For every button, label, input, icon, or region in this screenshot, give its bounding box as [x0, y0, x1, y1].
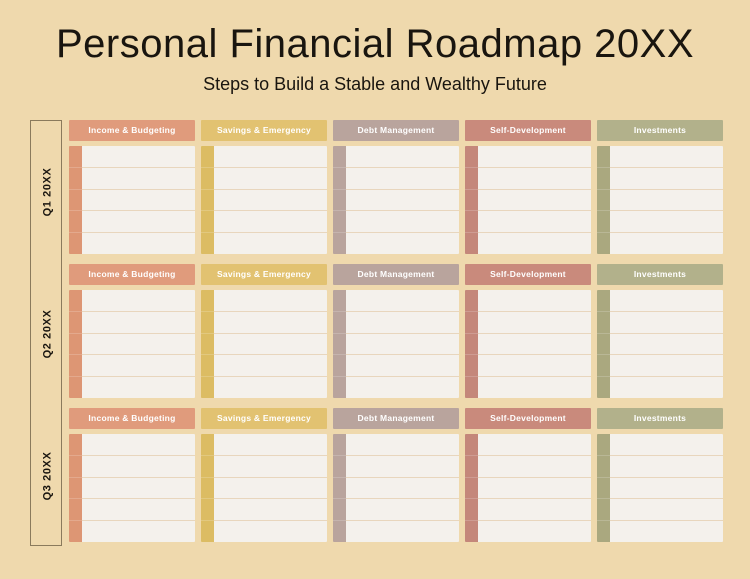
checkbox-cell[interactable]: [69, 478, 82, 500]
writing-line[interactable]: [214, 478, 327, 500]
checkbox-column[interactable]: [201, 290, 214, 398]
checkbox-column[interactable]: [201, 146, 214, 254]
checkbox-column[interactable]: [333, 290, 346, 398]
writing-line[interactable]: [214, 521, 327, 542]
checkbox-cell[interactable]: [597, 190, 610, 212]
writing-line[interactable]: [478, 290, 591, 312]
checkbox-cell[interactable]: [597, 478, 610, 500]
checkbox-cell[interactable]: [201, 434, 214, 456]
checkbox-cell[interactable]: [333, 233, 346, 254]
writing-line[interactable]: [478, 434, 591, 456]
checkbox-cell[interactable]: [69, 312, 82, 334]
card-header: Self-Development: [465, 264, 591, 285]
checkbox-column[interactable]: [333, 146, 346, 254]
writing-line[interactable]: [610, 456, 723, 478]
writing-line[interactable]: [610, 168, 723, 190]
writing-line[interactable]: [346, 377, 459, 398]
checkbox-cell[interactable]: [465, 190, 478, 212]
card-body[interactable]: [333, 434, 459, 542]
writing-line[interactable]: [82, 377, 195, 398]
writing-line[interactable]: [214, 377, 327, 398]
writing-line[interactable]: [610, 190, 723, 212]
writing-line[interactable]: [346, 499, 459, 521]
writing-line[interactable]: [82, 334, 195, 356]
writing-line[interactable]: [82, 478, 195, 500]
checkbox-column[interactable]: [597, 146, 610, 254]
writing-line[interactable]: [82, 312, 195, 334]
writing-line[interactable]: [82, 499, 195, 521]
checkbox-cell[interactable]: [333, 211, 346, 233]
writing-line[interactable]: [478, 499, 591, 521]
card-header: Self-Development: [465, 408, 591, 429]
checkbox-cell[interactable]: [69, 377, 82, 398]
writing-line[interactable]: [214, 211, 327, 233]
writing-lines-column[interactable]: [82, 146, 195, 254]
card-q1-income-budgeting[interactable]: Income & Budgeting: [69, 120, 195, 256]
checkbox-cell[interactable]: [201, 334, 214, 356]
writing-lines-column[interactable]: [610, 290, 723, 398]
writing-line[interactable]: [478, 211, 591, 233]
card-q3-savings-emergency[interactable]: Savings & Emergency: [201, 408, 327, 544]
quarter-label-q1-text: Q1 20XX: [41, 168, 53, 217]
card-header: Debt Management: [333, 264, 459, 285]
checkbox-cell[interactable]: [69, 211, 82, 233]
checkbox-cell[interactable]: [333, 434, 346, 456]
writing-lines-column[interactable]: [214, 146, 327, 254]
card-body[interactable]: [465, 434, 591, 542]
checkbox-cell[interactable]: [69, 521, 82, 542]
writing-line[interactable]: [610, 377, 723, 398]
writing-lines-column[interactable]: [346, 434, 459, 542]
card-body[interactable]: [597, 290, 723, 398]
writing-line[interactable]: [478, 478, 591, 500]
checkbox-cell[interactable]: [465, 521, 478, 542]
card-body[interactable]: [201, 146, 327, 254]
writing-line[interactable]: [346, 312, 459, 334]
writing-lines-column[interactable]: [346, 146, 459, 254]
writing-line[interactable]: [478, 312, 591, 334]
checkbox-cell[interactable]: [465, 290, 478, 312]
checkbox-cell[interactable]: [333, 478, 346, 500]
writing-line[interactable]: [82, 456, 195, 478]
checkbox-cell[interactable]: [69, 355, 82, 377]
checkbox-cell[interactable]: [201, 456, 214, 478]
writing-line[interactable]: [478, 521, 591, 542]
checkbox-cell[interactable]: [201, 478, 214, 500]
checkbox-cell[interactable]: [597, 290, 610, 312]
checkbox-cell[interactable]: [69, 233, 82, 254]
checkbox-cell[interactable]: [69, 456, 82, 478]
writing-line[interactable]: [478, 168, 591, 190]
writing-line[interactable]: [346, 334, 459, 356]
writing-line[interactable]: [346, 190, 459, 212]
card-q1-investments[interactable]: Investments: [597, 120, 723, 256]
checkbox-cell[interactable]: [465, 334, 478, 356]
checkbox-cell[interactable]: [465, 168, 478, 190]
page-subtitle: Steps to Build a Stable and Wealthy Futu…: [0, 74, 750, 96]
checkbox-cell[interactable]: [69, 334, 82, 356]
checkbox-cell[interactable]: [333, 499, 346, 521]
card-q3-income-budgeting[interactable]: Income & Budgeting: [69, 408, 195, 544]
writing-line[interactable]: [214, 233, 327, 254]
checkbox-cell[interactable]: [597, 233, 610, 254]
card-body[interactable]: [597, 434, 723, 542]
writing-line[interactable]: [82, 290, 195, 312]
checkbox-column[interactable]: [597, 434, 610, 542]
writing-line[interactable]: [214, 456, 327, 478]
card-body[interactable]: [69, 434, 195, 542]
checkbox-cell[interactable]: [69, 434, 82, 456]
writing-line[interactable]: [610, 146, 723, 168]
writing-line[interactable]: [346, 233, 459, 254]
checkbox-cell[interactable]: [69, 290, 82, 312]
checkbox-column[interactable]: [465, 434, 478, 542]
checkbox-cell[interactable]: [69, 499, 82, 521]
checkbox-cell[interactable]: [69, 146, 82, 168]
card-q2-income-budgeting[interactable]: Income & Budgeting: [69, 264, 195, 400]
checkbox-cell[interactable]: [465, 233, 478, 254]
card-q2-self-development[interactable]: Self-Development: [465, 264, 591, 400]
writing-line[interactable]: [82, 434, 195, 456]
checkbox-cell[interactable]: [333, 521, 346, 542]
writing-line[interactable]: [346, 478, 459, 500]
checkbox-cell[interactable]: [597, 355, 610, 377]
checkbox-cell[interactable]: [333, 377, 346, 398]
checkbox-cell[interactable]: [69, 168, 82, 190]
writing-lines-column[interactable]: [478, 434, 591, 542]
checkbox-cell[interactable]: [201, 377, 214, 398]
writing-line[interactable]: [478, 334, 591, 356]
writing-line[interactable]: [478, 355, 591, 377]
writing-lines-column[interactable]: [82, 290, 195, 398]
writing-line[interactable]: [346, 146, 459, 168]
card-body[interactable]: [69, 290, 195, 398]
writing-line[interactable]: [82, 190, 195, 212]
checkbox-cell[interactable]: [333, 146, 346, 168]
writing-line[interactable]: [478, 146, 591, 168]
writing-line[interactable]: [610, 478, 723, 500]
quarter-row-q1: Income & Budgeting: [69, 120, 731, 256]
checkbox-cell[interactable]: [201, 211, 214, 233]
writing-line[interactable]: [610, 434, 723, 456]
writing-line[interactable]: [478, 456, 591, 478]
card-header: Investments: [597, 120, 723, 141]
checkbox-cell[interactable]: [465, 355, 478, 377]
writing-line[interactable]: [478, 233, 591, 254]
checkbox-column[interactable]: [597, 290, 610, 398]
writing-line[interactable]: [610, 211, 723, 233]
writing-lines-column[interactable]: [346, 290, 459, 398]
card-q2-investments[interactable]: Investments: [597, 264, 723, 400]
card-body[interactable]: [333, 290, 459, 398]
card-header: Debt Management: [333, 120, 459, 141]
checkbox-column[interactable]: [201, 434, 214, 542]
writing-line[interactable]: [214, 146, 327, 168]
writing-line[interactable]: [82, 211, 195, 233]
card-body[interactable]: [597, 146, 723, 254]
writing-line[interactable]: [214, 290, 327, 312]
writing-line[interactable]: [610, 521, 723, 542]
checkbox-column[interactable]: [69, 290, 82, 398]
writing-line[interactable]: [82, 233, 195, 254]
quarter-label-q1: Q1 20XX: [31, 121, 63, 263]
checkbox-cell[interactable]: [201, 168, 214, 190]
writing-line[interactable]: [214, 312, 327, 334]
card-body[interactable]: [201, 290, 327, 398]
writing-lines-column[interactable]: [478, 290, 591, 398]
checkbox-cell[interactable]: [597, 211, 610, 233]
card-body[interactable]: [465, 290, 591, 398]
writing-line[interactable]: [346, 456, 459, 478]
writing-line[interactable]: [610, 312, 723, 334]
checkbox-cell[interactable]: [465, 456, 478, 478]
checkbox-cell[interactable]: [465, 312, 478, 334]
checkbox-column[interactable]: [69, 434, 82, 542]
writing-line[interactable]: [214, 499, 327, 521]
writing-line[interactable]: [346, 521, 459, 542]
writing-line[interactable]: [610, 355, 723, 377]
card-q3-investments[interactable]: Investments: [597, 408, 723, 544]
checkbox-cell[interactable]: [201, 499, 214, 521]
checkbox-cell[interactable]: [201, 146, 214, 168]
checkbox-cell[interactable]: [465, 478, 478, 500]
checkbox-cell[interactable]: [333, 290, 346, 312]
card-q3-debt-management[interactable]: Debt Management: [333, 408, 459, 544]
checkbox-cell[interactable]: [597, 434, 610, 456]
checkbox-cell[interactable]: [333, 312, 346, 334]
checkbox-cell[interactable]: [597, 168, 610, 190]
writing-lines-column[interactable]: [478, 146, 591, 254]
checkbox-cell[interactable]: [201, 521, 214, 542]
checkbox-column[interactable]: [333, 434, 346, 542]
writing-line[interactable]: [214, 355, 327, 377]
writing-lines-column[interactable]: [610, 434, 723, 542]
checkbox-cell[interactable]: [333, 334, 346, 356]
card-q1-debt-management[interactable]: Debt Management: [333, 120, 459, 256]
writing-lines-column[interactable]: [214, 290, 327, 398]
card-header: Income & Budgeting: [69, 264, 195, 285]
checkbox-cell[interactable]: [201, 290, 214, 312]
page-header: Personal Financial Roadmap 20XX Steps to…: [0, 0, 750, 96]
quarter-rows: Income & Budgeting: [69, 118, 731, 558]
checkbox-cell[interactable]: [465, 499, 478, 521]
card-header: Savings & Emergency: [201, 120, 327, 141]
checkbox-cell[interactable]: [465, 211, 478, 233]
writing-lines-column[interactable]: [82, 434, 195, 542]
writing-line[interactable]: [346, 434, 459, 456]
checkbox-cell[interactable]: [333, 355, 346, 377]
card-body[interactable]: [465, 146, 591, 254]
checkbox-cell[interactable]: [597, 312, 610, 334]
checkbox-cell[interactable]: [465, 377, 478, 398]
writing-line[interactable]: [610, 334, 723, 356]
checkbox-cell[interactable]: [597, 334, 610, 356]
quarter-label-q3-text: Q3 20XX: [41, 452, 53, 501]
checkbox-cell[interactable]: [333, 168, 346, 190]
writing-line[interactable]: [214, 168, 327, 190]
card-header: Savings & Emergency: [201, 408, 327, 429]
writing-line[interactable]: [478, 377, 591, 398]
writing-line[interactable]: [82, 168, 195, 190]
card-body[interactable]: [69, 146, 195, 254]
writing-line[interactable]: [214, 434, 327, 456]
roadmap-grid: Q1 20XX Q2 20XX Q3 20XX Income & Budgeti…: [0, 118, 750, 558]
writing-line[interactable]: [82, 146, 195, 168]
card-q2-debt-management[interactable]: Debt Management: [333, 264, 459, 400]
card-body[interactable]: [201, 434, 327, 542]
checkbox-cell[interactable]: [201, 312, 214, 334]
writing-line[interactable]: [346, 290, 459, 312]
card-header: Investments: [597, 408, 723, 429]
quarter-label-q2-text: Q2 20XX: [41, 310, 53, 359]
checkbox-cell[interactable]: [201, 233, 214, 254]
card-header: Investments: [597, 264, 723, 285]
writing-line[interactable]: [478, 190, 591, 212]
quarter-row-q3: Income & Budgeting: [69, 408, 731, 544]
card-header: Savings & Emergency: [201, 264, 327, 285]
card-q2-savings-emergency[interactable]: Savings & Emergency: [201, 264, 327, 400]
writing-line[interactable]: [346, 355, 459, 377]
card-q1-self-development[interactable]: Self-Development: [465, 120, 591, 256]
checkbox-cell[interactable]: [333, 190, 346, 212]
checkbox-cell[interactable]: [201, 355, 214, 377]
writing-line[interactable]: [610, 290, 723, 312]
checkbox-cell[interactable]: [597, 499, 610, 521]
checkbox-cell[interactable]: [597, 521, 610, 542]
checkbox-cell[interactable]: [597, 377, 610, 398]
checkbox-column[interactable]: [465, 146, 478, 254]
quarter-label-q2: Q2 20XX: [31, 263, 63, 405]
checkbox-column[interactable]: [69, 146, 82, 254]
card-q1-savings-emergency[interactable]: Savings & Emergency: [201, 120, 327, 256]
checkbox-cell[interactable]: [333, 456, 346, 478]
writing-lines-column[interactable]: [610, 146, 723, 254]
card-header: Income & Budgeting: [69, 120, 195, 141]
checkbox-column[interactable]: [465, 290, 478, 398]
card-q3-self-development[interactable]: Self-Development: [465, 408, 591, 544]
quarter-rail: Q1 20XX Q2 20XX Q3 20XX: [30, 120, 62, 546]
writing-line[interactable]: [346, 211, 459, 233]
checkbox-cell[interactable]: [597, 456, 610, 478]
quarter-row-q2: Income & Budgeting: [69, 264, 731, 400]
quarter-label-q3: Q3 20XX: [31, 405, 63, 547]
writing-lines-column[interactable]: [214, 434, 327, 542]
writing-line[interactable]: [82, 521, 195, 542]
checkbox-cell[interactable]: [201, 190, 214, 212]
writing-line[interactable]: [214, 334, 327, 356]
page-title: Personal Financial Roadmap 20XX: [0, 22, 750, 66]
card-header: Self-Development: [465, 120, 591, 141]
card-header: Debt Management: [333, 408, 459, 429]
writing-line[interactable]: [346, 168, 459, 190]
checkbox-cell[interactable]: [465, 434, 478, 456]
writing-line[interactable]: [82, 355, 195, 377]
checkbox-cell[interactable]: [465, 146, 478, 168]
checkbox-cell[interactable]: [597, 146, 610, 168]
card-body[interactable]: [333, 146, 459, 254]
writing-line[interactable]: [610, 499, 723, 521]
card-header: Income & Budgeting: [69, 408, 195, 429]
writing-line[interactable]: [610, 233, 723, 254]
writing-line[interactable]: [214, 190, 327, 212]
checkbox-cell[interactable]: [69, 190, 82, 212]
